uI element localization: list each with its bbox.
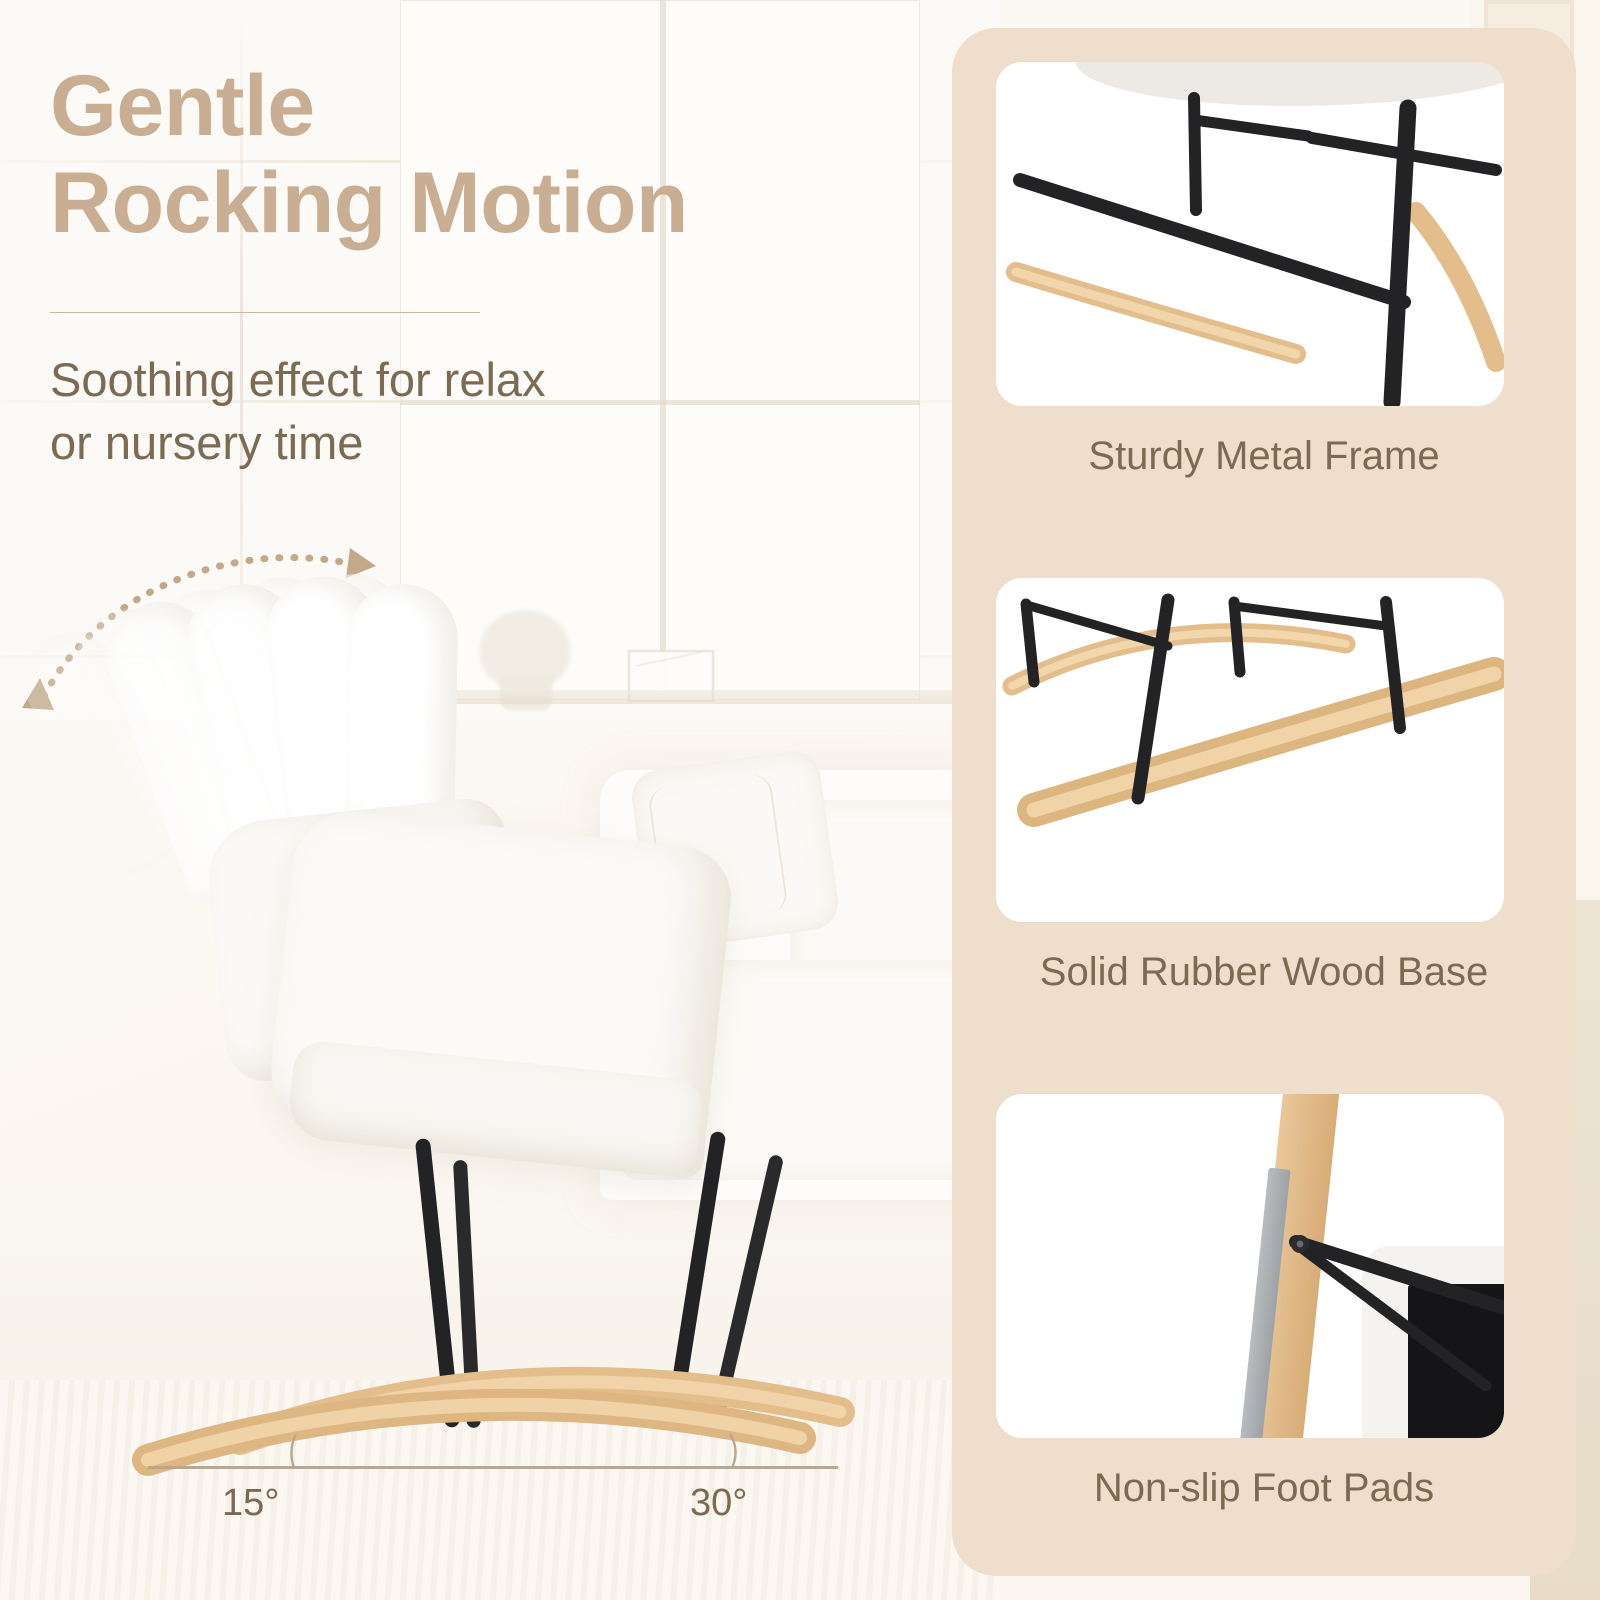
angle-label-15: 15° <box>222 1482 279 1525</box>
main-product-photo <box>40 560 940 1480</box>
headline-line-2: Rocking Motion <box>50 155 910 252</box>
subtitle-line-2: or nursery time <box>50 411 770 474</box>
headline-line-1: Gentle <box>50 58 910 155</box>
angle-label-30: 30° <box>690 1482 747 1525</box>
feature-card-label-wood-base: Solid Rubber Wood Base <box>952 950 1576 995</box>
feature-card-wood-base[interactable] <box>996 578 1504 922</box>
metal-frame-detail-photo <box>996 62 1504 406</box>
headline-block: Gentle Rocking Motion <box>50 58 910 252</box>
feature-card-label-foot-pads: Non-slip Foot Pads <box>952 1466 1576 1511</box>
foot-pad-bracket-detail <box>996 1094 1504 1438</box>
feature-card-metal-frame[interactable] <box>996 62 1504 406</box>
subtitle-block: Soothing effect for relax or nursery tim… <box>50 348 770 475</box>
feature-card-label-metal-frame: Sturdy Metal Frame <box>952 434 1576 479</box>
angle-tick-15 <box>280 1432 310 1470</box>
feature-panel: Sturdy Metal Frame Solid Rubber Wood Bas… <box>952 28 1576 1576</box>
subtitle-line-1: Soothing effect for relax <box>50 348 770 411</box>
feature-card-foot-pads[interactable] <box>996 1094 1504 1438</box>
wood-base-detail-photo <box>996 578 1504 922</box>
headline-divider <box>50 312 480 313</box>
wooden-rocker-runner-front <box>40 1220 940 1540</box>
angle-tick-30 <box>720 1432 750 1470</box>
